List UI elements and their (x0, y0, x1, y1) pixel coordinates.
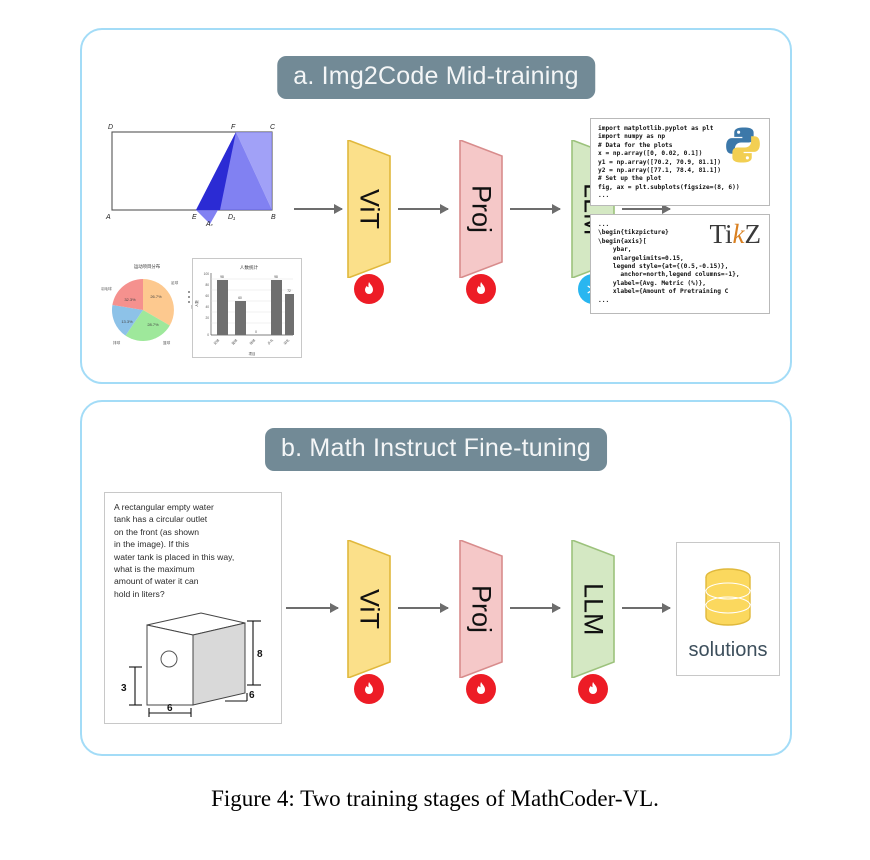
svg-text:足球: 足球 (171, 280, 179, 285)
svg-text:羽毛球: 羽毛球 (101, 286, 112, 291)
stage-b-panel: b. Math Instruct Fine-tuning A rectangul… (80, 400, 792, 756)
svg-text:C: C (270, 124, 276, 131)
svg-text:20: 20 (205, 316, 209, 320)
fire-glyph (361, 681, 377, 697)
svg-text:足球: 足球 (212, 337, 221, 346)
svg-text:8: 8 (257, 649, 263, 660)
svg-text:98: 98 (274, 275, 278, 279)
arrow-vit-to-proj-b (398, 607, 448, 609)
python-icon (723, 125, 763, 165)
stage-a-panel: a. Img2Code Mid-training D F C A E D₁ B … (80, 28, 792, 384)
svg-text:项目: 项目 (249, 352, 256, 356)
svg-text:B: B (271, 214, 276, 221)
pie-chart-svg: 运动项目分布 26.7% 28.7% 13.3% 32.3% 足球 篮球 排球 … (97, 258, 197, 354)
svg-text:人数: 人数 (194, 300, 199, 307)
bar-chart: 人数统计 9860 09872 10080 6040 200 (192, 258, 302, 358)
svg-text:32.3%: 32.3% (124, 297, 136, 302)
svg-text:乒乓: 乒乓 (266, 337, 275, 346)
svg-text:羽毛: 羽毛 (282, 337, 291, 346)
arrow-input-to-vit (294, 208, 342, 210)
svg-text:13.3%: 13.3% (121, 319, 133, 324)
question-card: A rectangular empty water tank has a cir… (104, 492, 282, 724)
svg-text:篮球: 篮球 (230, 337, 239, 346)
svg-text:40: 40 (205, 305, 209, 309)
module-proj-a: Proj (452, 140, 510, 278)
svg-text:E: E (192, 214, 197, 221)
fire-glyph (473, 281, 489, 297)
svg-text:98: 98 (220, 275, 224, 279)
svg-text:D: D (108, 124, 113, 131)
svg-text:A: A (105, 214, 111, 221)
module-label: Proj (452, 540, 510, 678)
cube-diagram: 83 66 (105, 597, 281, 717)
tikz-code-box: ... \begin{tikzpicture} \begin{axis}[ yb… (590, 214, 770, 314)
python-code-box: import matplotlib.pyplot as plt import n… (590, 118, 770, 206)
svg-text:3: 3 (121, 683, 127, 694)
svg-text:26.7%: 26.7% (150, 294, 162, 299)
database-icon (698, 567, 758, 629)
svg-text:28.7%: 28.7% (147, 322, 159, 327)
pie-chart: 运动项目分布 26.7% 28.7% 13.3% 32.3% 足球 篮球 排球 … (97, 258, 197, 354)
geometry-diagram: D F C A E D₁ B A₁ (100, 118, 288, 226)
svg-text:0: 0 (207, 333, 209, 337)
arrow-input-to-vit-b (286, 607, 338, 609)
fire-glyph (585, 681, 601, 697)
stage-b-banner: b. Math Instruct Fine-tuning (265, 428, 607, 471)
module-proj-b: Proj (452, 540, 510, 678)
tikz-pre: Ti (709, 219, 732, 249)
arrow-proj-to-llm-b (510, 607, 560, 609)
module-label: ViT (340, 140, 398, 278)
svg-text:6: 6 (249, 690, 255, 701)
fire-glyph (361, 281, 377, 297)
solutions-box: solutions (676, 542, 780, 676)
svg-text:D₁: D₁ (228, 214, 236, 221)
arrow-llm-to-solutions (622, 607, 670, 609)
svg-text:80: 80 (205, 283, 209, 287)
module-label: Proj (452, 140, 510, 278)
fire-icon (466, 674, 496, 704)
svg-text:A₁: A₁ (205, 221, 214, 226)
svg-text:6: 6 (167, 703, 173, 714)
fire-icon (466, 274, 496, 304)
svg-text:排球: 排球 (248, 337, 257, 346)
tikz-logo: TikZ (709, 219, 761, 250)
bar-chart-svg: 人数统计 9860 09872 10080 6040 200 (193, 259, 301, 357)
arrow-vit-to-proj (398, 208, 448, 210)
tikz-post: Z (745, 219, 762, 249)
svg-text:篮球: 篮球 (163, 340, 171, 345)
fire-icon (578, 674, 608, 704)
svg-text:60: 60 (238, 296, 242, 300)
svg-text:排球: 排球 (113, 340, 121, 345)
svg-text:人数统计: 人数统计 (240, 264, 259, 271)
svg-text:72: 72 (287, 289, 291, 293)
svg-text:0: 0 (255, 330, 257, 334)
fire-glyph (473, 681, 489, 697)
solutions-label: solutions (677, 639, 779, 662)
module-label: LLM (564, 540, 622, 678)
arrow-proj-to-llm (510, 208, 560, 210)
module-label: ViT (340, 540, 398, 678)
module-llm-b: LLM (564, 540, 622, 678)
fire-icon (354, 274, 384, 304)
svg-text:F: F (231, 124, 236, 131)
svg-text:100: 100 (204, 272, 210, 276)
question-text: A rectangular empty water tank has a cir… (114, 501, 276, 600)
arrow-llm-to-output (622, 208, 670, 210)
tikz-accent: k (733, 219, 745, 249)
figure-caption: Figure 4: Two training stages of MathCod… (0, 786, 870, 812)
module-vit-a: ViT (340, 140, 398, 278)
module-vit-b: ViT (340, 540, 398, 678)
fire-icon (354, 674, 384, 704)
svg-text:60: 60 (205, 294, 209, 298)
geometry-svg: D F C A E D₁ B A₁ (100, 118, 288, 226)
svg-text:运动项目分布: 运动项目分布 (134, 263, 161, 270)
stage-a-banner: a. Img2Code Mid-training (277, 56, 595, 99)
